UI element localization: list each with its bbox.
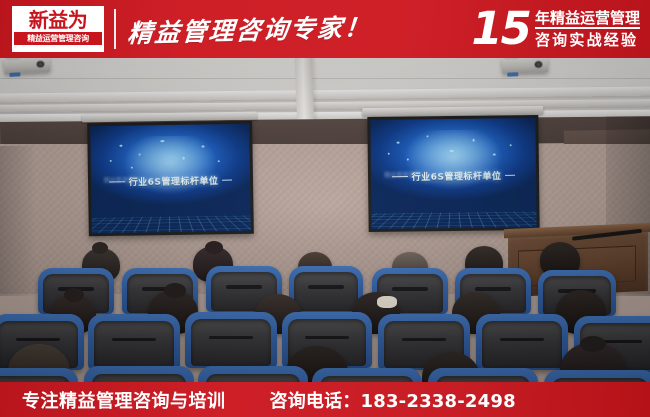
seat-slot bbox=[16, 338, 60, 342]
seat-slot bbox=[308, 285, 344, 288]
company-logo: 新益为 精益运营管理咨询 bbox=[12, 6, 104, 52]
hair-bun bbox=[580, 336, 606, 352]
auditorium-seat bbox=[476, 314, 568, 370]
seat-slot bbox=[112, 338, 156, 342]
hair-clip-icon bbox=[377, 296, 397, 308]
seat-slot bbox=[209, 336, 253, 340]
hair-bun bbox=[164, 283, 186, 298]
years-badge: 15 年精益运营管理 咨询实战经验 bbox=[471, 9, 640, 50]
years-text-group: 年精益运营管理 咨询实战经验 bbox=[535, 9, 640, 50]
years-line-2: 咨询实战经验 bbox=[535, 29, 640, 50]
seat-slot bbox=[392, 287, 428, 290]
seat-back-pad bbox=[294, 272, 358, 311]
seat-back-pad bbox=[482, 321, 561, 368]
conference-room-photo: 精益管理咨询 行业6S管理标杆单位 bbox=[0, 56, 650, 386]
seat-slot bbox=[500, 338, 544, 342]
banner-slogan: 精益管理咨询专家！ bbox=[126, 8, 372, 50]
footer-tagline: 专注精益管理咨询与培训 bbox=[22, 387, 226, 413]
seat-back-pad bbox=[94, 321, 173, 368]
seat-slot bbox=[402, 338, 446, 342]
auditorium-seat bbox=[88, 314, 180, 370]
auditorium-seat bbox=[185, 312, 277, 368]
auditorium-seat bbox=[289, 266, 363, 312]
hair-bun bbox=[64, 288, 84, 302]
seat-slot bbox=[226, 285, 262, 288]
audience-area bbox=[0, 56, 650, 386]
footer-phone: 咨询电话：183-2338-2498 bbox=[270, 387, 516, 413]
screenshot-root: 新益为 精益运营管理咨询 精益管理咨询专家！ 15 年精益运营管理 咨询实战经验 bbox=[0, 0, 650, 417]
seat-slot bbox=[305, 336, 348, 340]
years-number: 15 bbox=[471, 9, 530, 50]
top-banner: 新益为 精益运营管理咨询 精益管理咨询专家！ 15 年精益运营管理 咨询实战经验 bbox=[0, 0, 650, 58]
years-line-1: 年精益运营管理 bbox=[535, 9, 640, 28]
logo-main-text: 新益为 bbox=[14, 8, 102, 31]
bottom-bar: 专注精益管理咨询与培训 咨询电话：183-2338-2498 bbox=[0, 382, 650, 417]
hair-bun bbox=[92, 242, 108, 254]
logo-sub-text: 精益运营管理咨询 bbox=[14, 32, 102, 45]
banner-divider bbox=[114, 9, 116, 49]
hair-bun bbox=[205, 241, 223, 254]
seat-slot bbox=[475, 287, 511, 290]
seat-back-pad bbox=[191, 319, 270, 366]
